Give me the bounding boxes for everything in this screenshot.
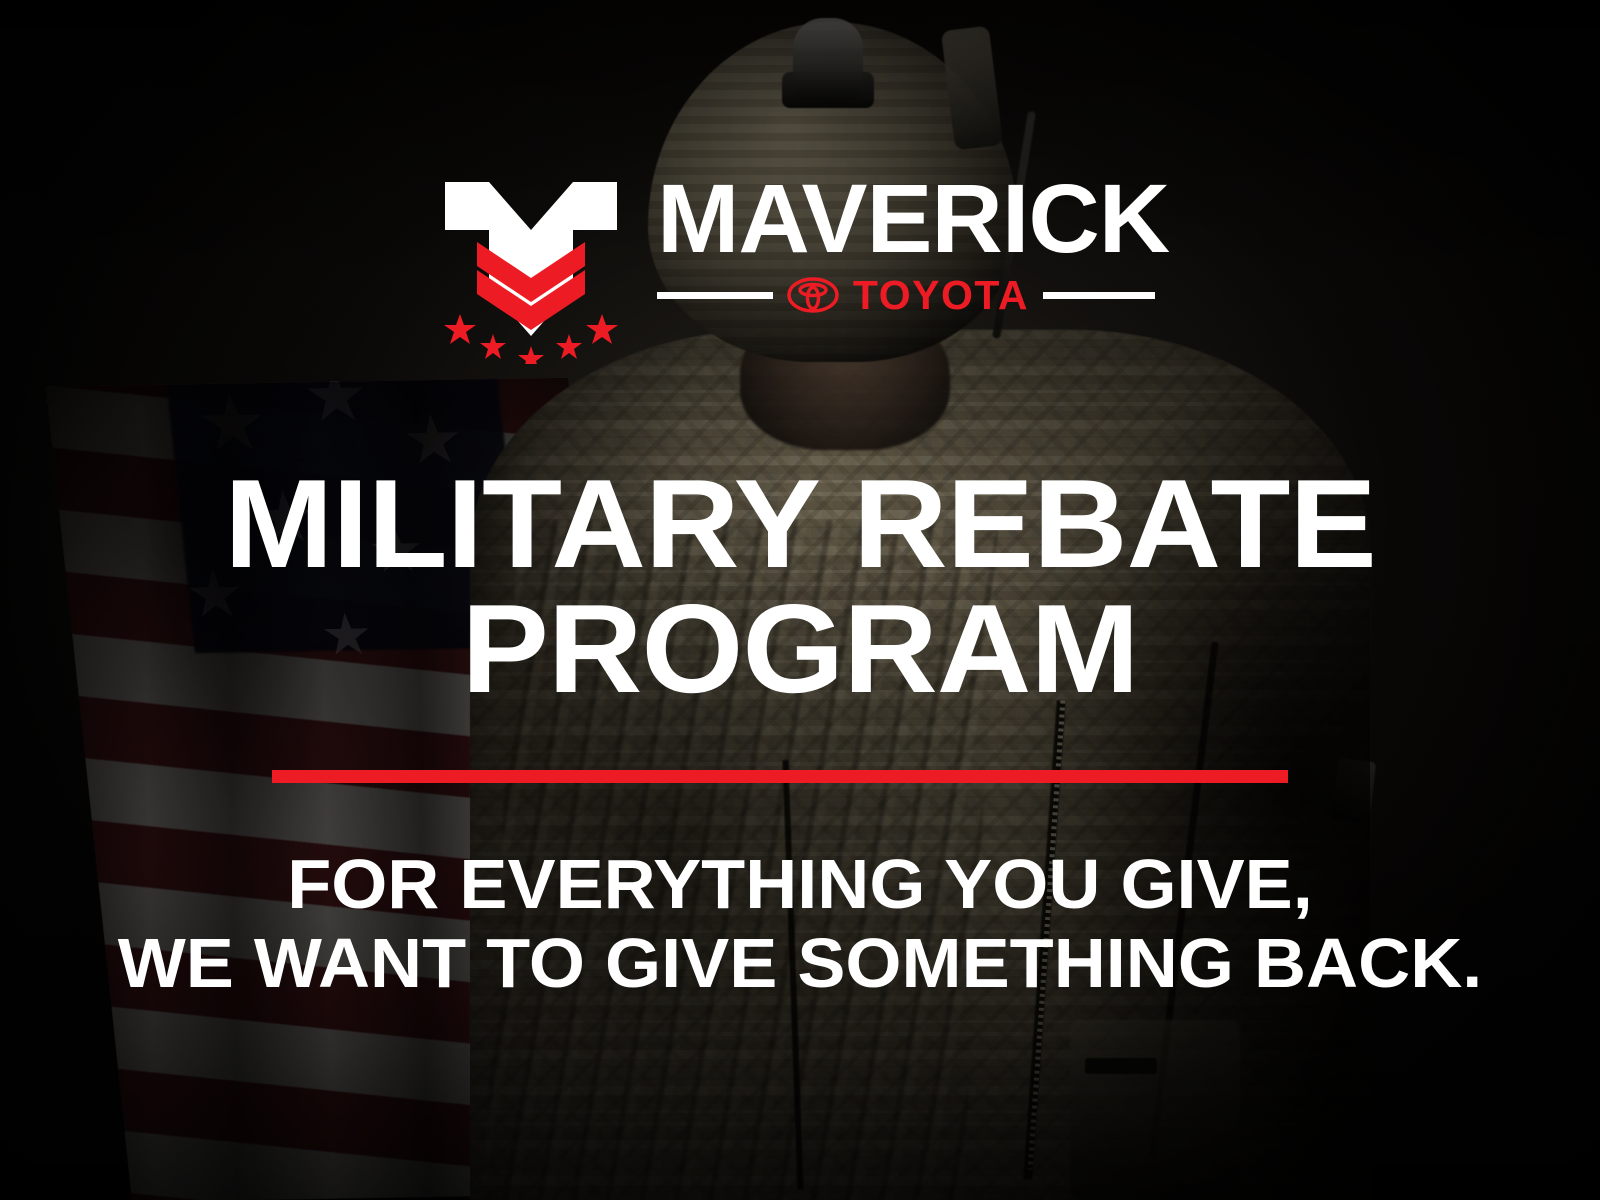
divider-rule-left — [657, 292, 773, 299]
dealer-logo-lockup[interactable]: MAVERICK TOYOTA — [0, 168, 1600, 364]
divider-rule-right — [1043, 292, 1155, 299]
brand-wordmark: MAVERICK TOYOTA — [657, 168, 1159, 313]
military-rebate-poster: MAVERICK TOYOTA MILITARY RE — [0, 0, 1600, 1200]
maverick-chevron-emblem-icon — [441, 168, 621, 364]
tagline: FOR EVERYTHING YOU GIVE, WE WANT TO GIVE… — [0, 845, 1600, 1003]
red-divider-bar — [272, 770, 1288, 783]
toyota-oval-icon — [787, 277, 839, 313]
tagline-line-1: FOR EVERYTHING YOU GIVE, — [0, 845, 1600, 924]
headline-line-2: PROGRAM — [0, 587, 1600, 712]
sub-brand-toyota: TOYOTA — [853, 275, 1029, 316]
poster-content: MAVERICK TOYOTA MILITARY RE — [0, 0, 1600, 1200]
brand-name-maverick: MAVERICK — [657, 174, 1169, 263]
tagline-line-2: WE WANT TO GIVE SOMETHING BACK. — [0, 924, 1600, 1003]
page-title: MILITARY REBATE PROGRAM — [0, 462, 1600, 711]
toyota-sub-brand-row: TOYOTA — [657, 277, 1159, 313]
headline-line-1: MILITARY REBATE — [0, 462, 1600, 587]
